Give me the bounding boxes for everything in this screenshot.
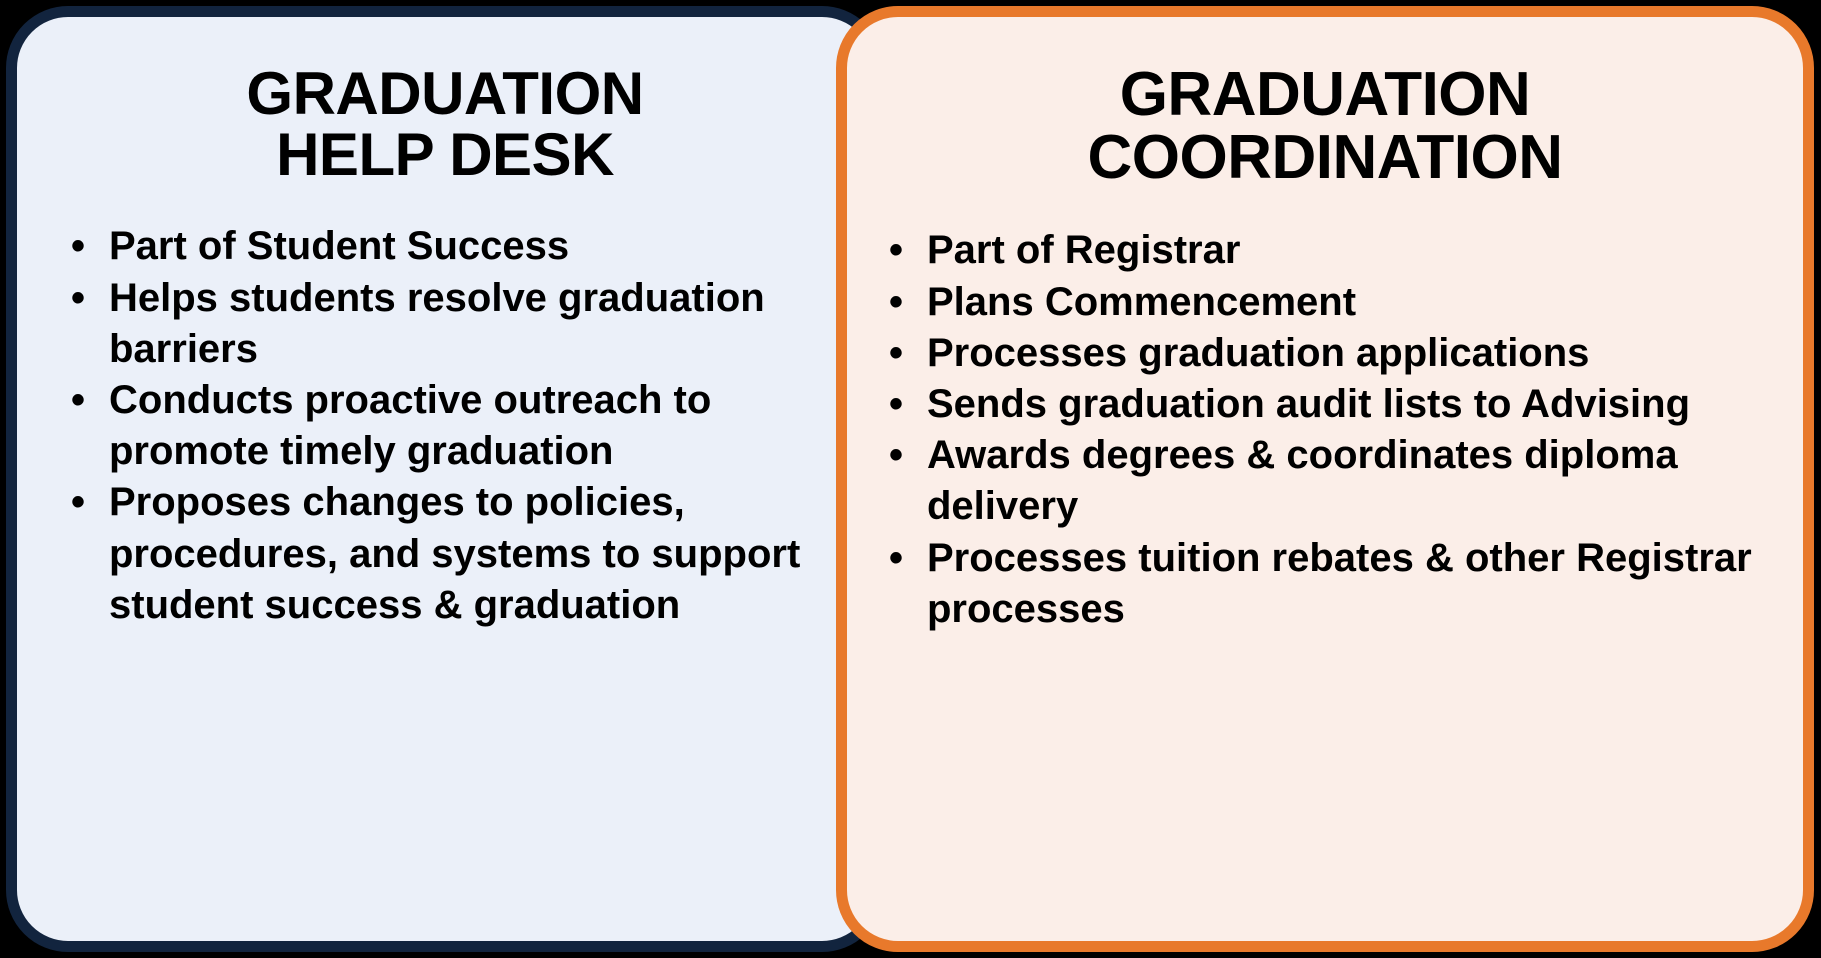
list-item-label: Awards degrees & coordinates diploma del… — [927, 430, 1785, 532]
list-item-label: Part of Registrar — [927, 225, 1785, 276]
list-item: • Part of Student Success — [57, 221, 855, 272]
bullet-dot-icon: • — [875, 277, 927, 328]
bullet-dot-icon: • — [875, 379, 927, 430]
list-item: • Conducts proactive outreach to promote… — [57, 375, 855, 477]
list-item: • Sends graduation audit lists to Advisi… — [875, 379, 1785, 430]
bullet-dot-icon: • — [875, 430, 927, 481]
list-item: • Plans Commencement — [875, 277, 1785, 328]
list-item: • Processes graduation applications — [875, 328, 1785, 379]
card-title-line-1: GRADUATION — [865, 63, 1785, 126]
card-title-line-2: COORDINATION — [865, 126, 1785, 189]
list-item: • Processes tuition rebates & other Regi… — [875, 533, 1785, 635]
bullet-list-coordination: • Part of Registrar • Plans Commencement… — [875, 225, 1785, 635]
list-item-label: Helps students resolve graduation barrie… — [109, 273, 855, 375]
bullet-dot-icon: • — [57, 375, 109, 426]
bullet-list-help-desk: • Part of Student Success • Helps studen… — [57, 221, 855, 631]
card-title-coordination: GRADUATION COORDINATION — [865, 63, 1785, 189]
bullet-dot-icon: • — [875, 328, 927, 379]
card-title-help-desk: GRADUATION HELP DESK — [41, 63, 849, 185]
list-item: • Helps students resolve graduation barr… — [57, 273, 855, 375]
list-item-label: Proposes changes to policies, procedures… — [109, 477, 855, 631]
comparison-board: GRADUATION HELP DESK • Part of Student S… — [0, 0, 1821, 958]
list-item: • Awards degrees & coordinates diploma d… — [875, 430, 1785, 532]
list-item: • Proposes changes to policies, procedur… — [57, 477, 855, 631]
bullet-dot-icon: • — [57, 273, 109, 324]
list-item-label: Processes graduation applications — [927, 328, 1785, 379]
list-item-label: Processes tuition rebates & other Regist… — [927, 533, 1785, 635]
bullet-dot-icon: • — [875, 533, 927, 584]
list-item-label: Part of Student Success — [109, 221, 855, 272]
list-item-label: Conducts proactive outreach to promote t… — [109, 375, 855, 477]
bullet-dot-icon: • — [57, 221, 109, 272]
card-graduation-help-desk: GRADUATION HELP DESK • Part of Student S… — [6, 6, 884, 952]
card-title-line-2: HELP DESK — [41, 124, 849, 185]
bullet-dot-icon: • — [875, 225, 927, 276]
card-title-line-1: GRADUATION — [41, 63, 849, 124]
list-item-label: Plans Commencement — [927, 277, 1785, 328]
bullet-dot-icon: • — [57, 477, 109, 528]
card-graduation-coordination: GRADUATION COORDINATION • Part of Regist… — [836, 6, 1814, 952]
list-item: • Part of Registrar — [875, 225, 1785, 276]
list-item-label: Sends graduation audit lists to Advising — [927, 379, 1785, 430]
